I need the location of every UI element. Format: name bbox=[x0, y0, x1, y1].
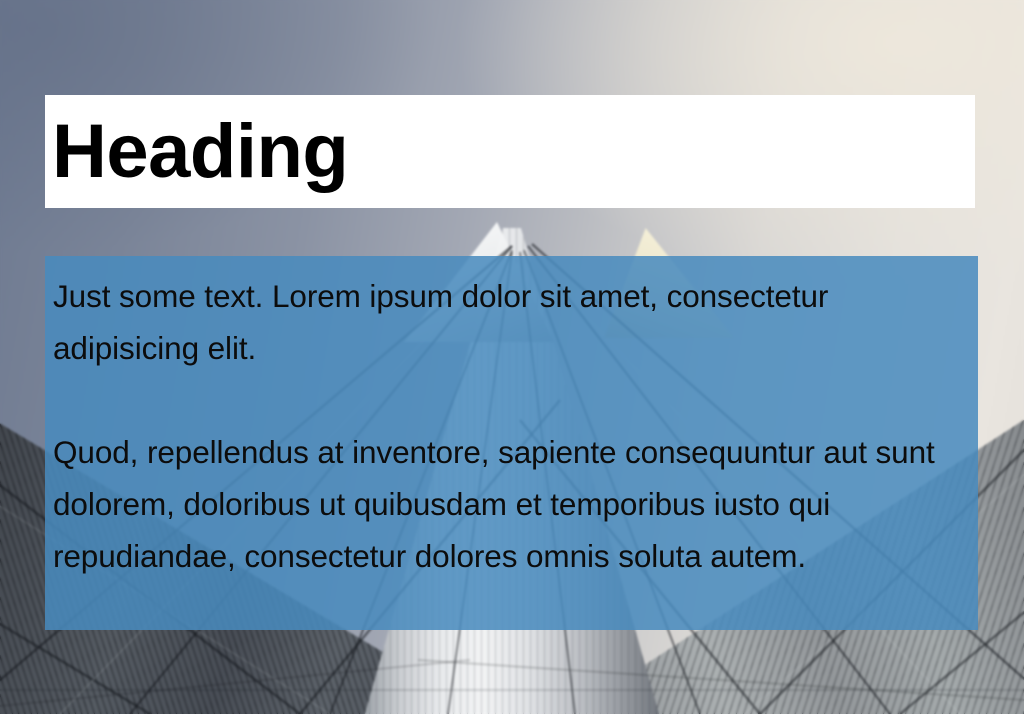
heading-band: Heading bbox=[45, 95, 975, 208]
body-paragraph: Just some text. Lorem ipsum dolor sit am… bbox=[49, 270, 966, 374]
body-paragraph: Quod, repellendus at inventore, sapiente… bbox=[49, 426, 966, 582]
page-title: Heading bbox=[52, 114, 348, 190]
slide-canvas: Heading Just some text. Lorem ipsum dolo… bbox=[0, 0, 1024, 714]
body-text-block: Just some text. Lorem ipsum dolor sit am… bbox=[45, 256, 978, 630]
